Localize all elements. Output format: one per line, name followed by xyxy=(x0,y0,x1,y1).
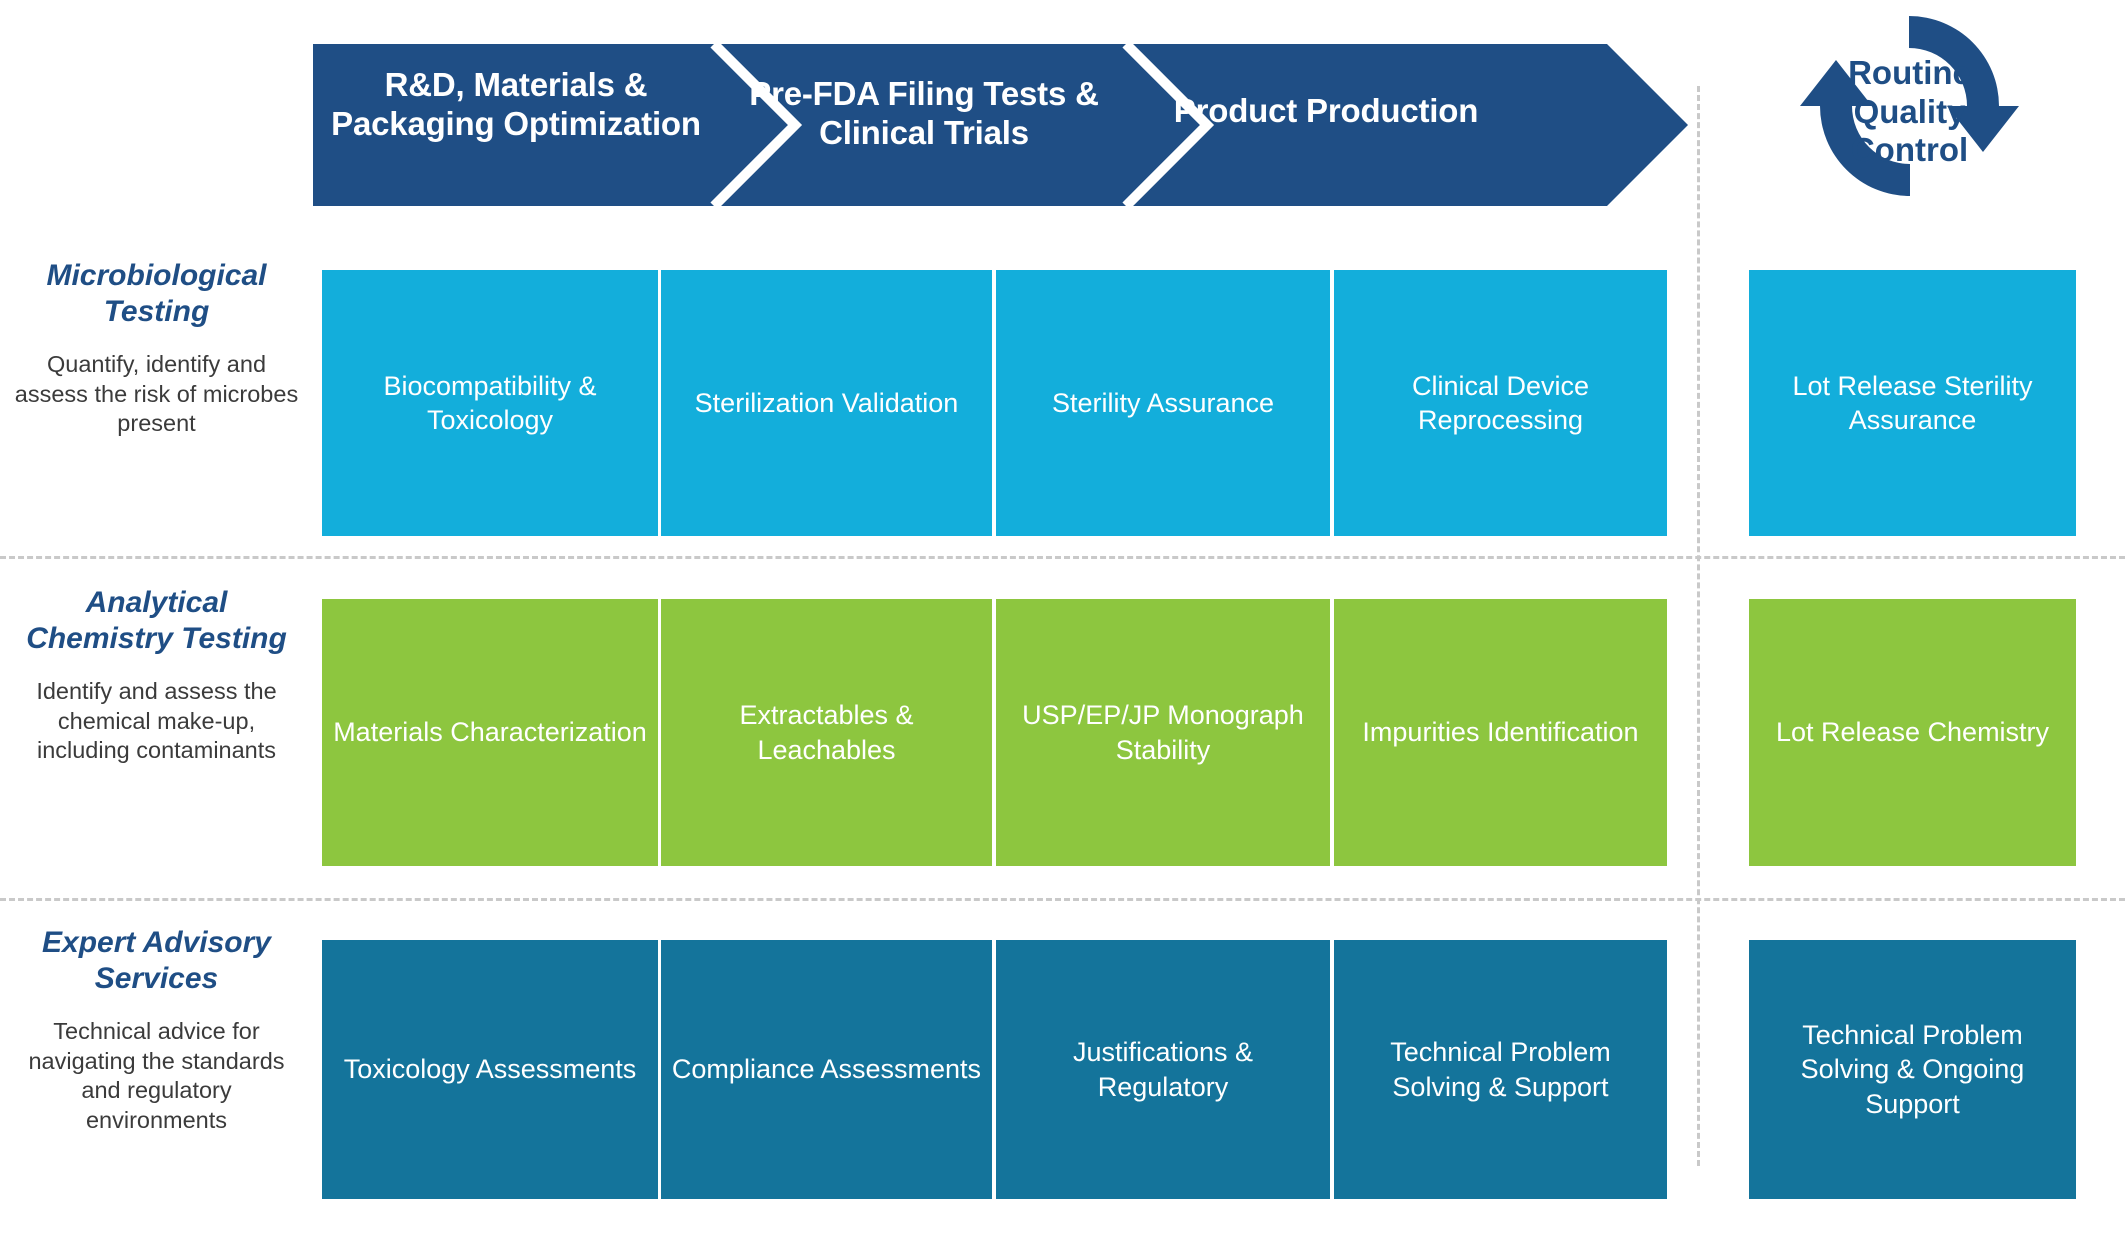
card-impurities-identification[interactable]: Impurities Identification xyxy=(1334,599,1667,866)
row-label-analytical: Analytical Chemistry Testing Identify an… xyxy=(0,585,313,766)
card-technical-problem-solving-ongoing-support[interactable]: Technical Problem Solving & Ongoing Supp… xyxy=(1749,940,2076,1199)
card-clinical-device-reprocessing[interactable]: Clinical Device Reprocessing xyxy=(1334,270,1667,536)
card-lot-release-sterility-assurance[interactable]: Lot Release Sterility Assurance xyxy=(1749,270,2076,536)
process-phase-rnd-materials-packaging[interactable]: R&D, Materials & Packaging Optimization xyxy=(331,66,701,144)
card-toxicology-assessments[interactable]: Toxicology Assessments xyxy=(322,940,658,1199)
row-divider-2 xyxy=(0,898,2125,901)
card-technical-problem-solving-support[interactable]: Technical Problem Solving & Support xyxy=(1334,940,1667,1199)
routine-quality-control-cycle: Routine Quality Control xyxy=(1797,6,2022,206)
service-matrix-diagram: R&D, Materials & Packaging Optimization … xyxy=(0,0,2125,1250)
card-biocompatibility-toxicology[interactable]: Biocompatibility & Toxicology xyxy=(322,270,658,536)
quality-control-column-divider xyxy=(1697,86,1700,1166)
row-label-microbiological: Microbiological Testing Quantify, identi… xyxy=(0,258,313,439)
card-materials-characterization[interactable]: Materials Characterization xyxy=(322,599,658,866)
card-usp-ep-jp-monograph-stability[interactable]: USP/EP/JP Monograph Stability xyxy=(996,599,1330,866)
routine-quality-control-label: Routine Quality Control xyxy=(1797,54,2022,170)
row-description-advisory: Technical advice for navigating the stan… xyxy=(10,1017,303,1135)
process-phase-product-production[interactable]: Product Production xyxy=(1151,92,1501,131)
card-extractables-leachables[interactable]: Extractables & Leachables xyxy=(661,599,992,866)
card-lot-release-chemistry[interactable]: Lot Release Chemistry xyxy=(1749,599,2076,866)
card-sterilization-validation[interactable]: Sterilization Validation xyxy=(661,270,992,536)
row-title-advisory: Expert Advisory Services xyxy=(10,925,303,997)
row-title-microbiological: Microbiological Testing xyxy=(10,258,303,330)
card-justifications-regulatory[interactable]: Justifications & Regulatory xyxy=(996,940,1330,1199)
process-banner: R&D, Materials & Packaging Optimization … xyxy=(313,44,1688,206)
row-label-advisory: Expert Advisory Services Technical advic… xyxy=(0,925,313,1135)
card-sterility-assurance[interactable]: Sterility Assurance xyxy=(996,270,1330,536)
row-description-analytical: Identify and assess the chemical make-up… xyxy=(10,677,303,766)
process-phase-prefda-filing-clinical[interactable]: Pre-FDA Filing Tests & Clinical Trials xyxy=(739,75,1109,153)
card-compliance-assessments[interactable]: Compliance Assessments xyxy=(661,940,992,1199)
row-title-analytical: Analytical Chemistry Testing xyxy=(10,585,303,657)
row-description-microbiological: Quantify, identify and assess the risk o… xyxy=(10,350,303,439)
row-divider-1 xyxy=(0,556,2125,559)
